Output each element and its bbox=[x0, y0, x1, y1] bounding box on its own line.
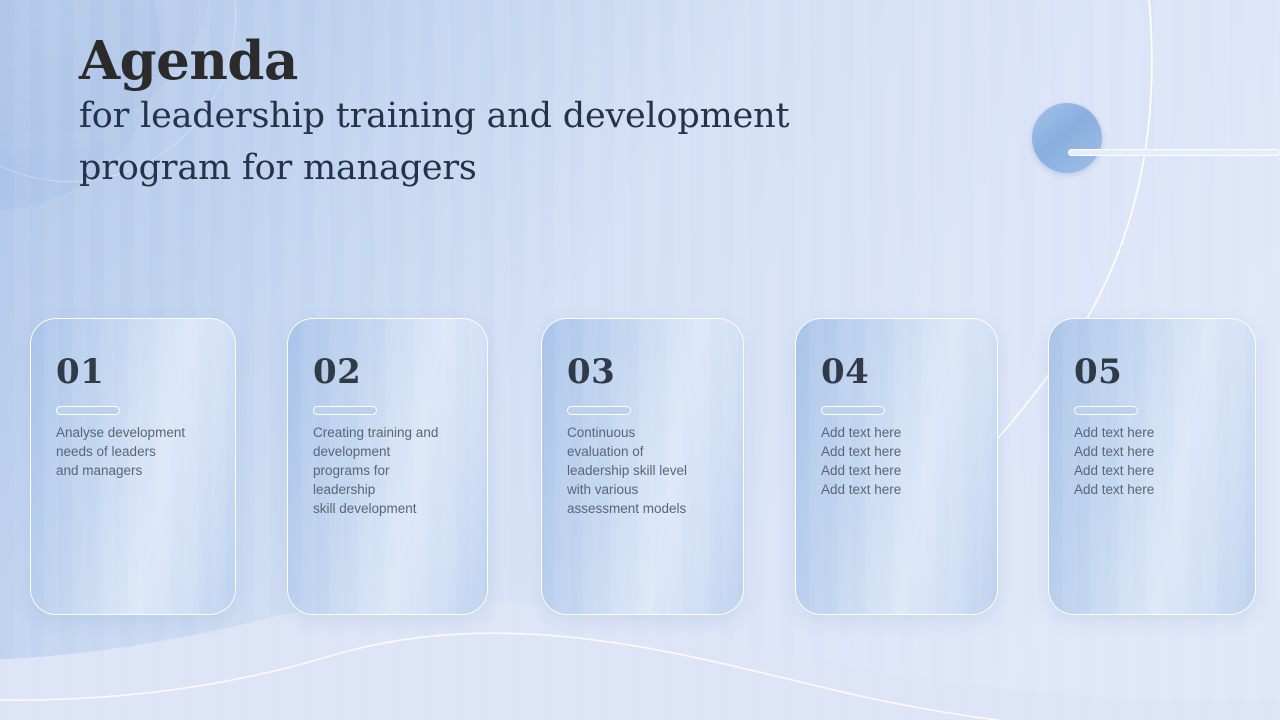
agenda-card[interactable]: 03 Continuous evaluation of leadership s… bbox=[541, 318, 744, 615]
card-underline-rule bbox=[567, 406, 631, 415]
card-underline-rule bbox=[821, 406, 885, 415]
card-number: 04 bbox=[821, 355, 869, 389]
card-underline-rule bbox=[1074, 406, 1138, 415]
card-body-text: Analyse development needs of leaders and… bbox=[56, 423, 221, 480]
agenda-card[interactable]: 02 Creating training and development pro… bbox=[287, 318, 488, 615]
card-number: 02 bbox=[313, 355, 361, 389]
agenda-card[interactable]: 01 Analyse development needs of leaders … bbox=[30, 318, 236, 615]
card-body-text: Creating training and development progra… bbox=[313, 423, 473, 518]
agenda-card[interactable]: 05 Add text here Add text here Add text … bbox=[1048, 318, 1256, 615]
card-number: 01 bbox=[56, 355, 104, 389]
card-number: 05 bbox=[1074, 355, 1122, 389]
card-underline-rule bbox=[313, 406, 377, 415]
card-underline-rule bbox=[56, 406, 120, 415]
card-body-text: Add text here Add text here Add text her… bbox=[1074, 423, 1241, 499]
card-number: 03 bbox=[567, 355, 615, 389]
agenda-card[interactable]: 04 Add text here Add text here Add text … bbox=[795, 318, 998, 615]
agenda-card-list: 01 Analyse development needs of leaders … bbox=[0, 0, 1280, 720]
card-body-text: Add text here Add text here Add text her… bbox=[821, 423, 983, 499]
card-body-text: Continuous evaluation of leadership skil… bbox=[567, 423, 729, 518]
slide-canvas: Agenda for leadership training and devel… bbox=[0, 0, 1280, 720]
